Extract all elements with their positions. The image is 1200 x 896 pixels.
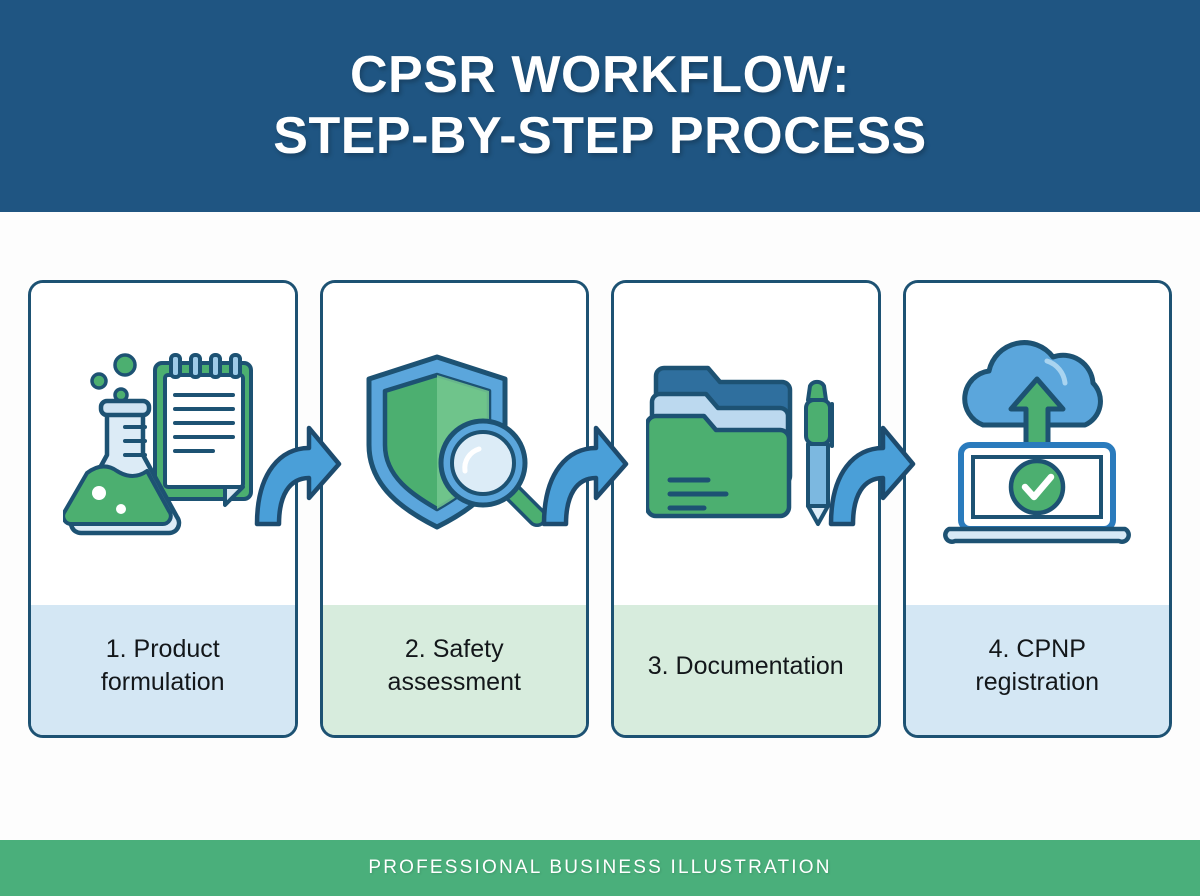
shield-magnifier-icon [323,283,587,605]
step-card-3[interactable]: 3. Documentation [611,280,881,738]
step-caption-3: 3. Documentation [614,605,878,735]
step-card-1[interactable]: 1. Product formulation [28,280,298,738]
step-caption-4-line-2: registration [975,668,1099,696]
step-caption-4-line-1: 4. CPNP [989,635,1086,663]
footer-text: PROFESSIONAL BUSINESS ILLUSTRATION [368,857,831,879]
footer-banner: PROFESSIONAL BUSINESS ILLUSTRATION [0,840,1200,896]
step-caption-1: 1. Product formulation [31,605,295,735]
step-caption-1-line-1: 1. Product [106,635,220,663]
header-banner: CPSR WORKFLOW: STEP-BY-STEP PROCESS [0,0,1200,212]
folders-pen-icon [614,283,878,605]
step-caption-1-line-2: formulation [101,668,225,696]
title-line-2: STEP-BY-STEP PROCESS [273,106,926,167]
step-caption-2-line-1: 2. Safety [405,635,504,663]
page-title: CPSR WORKFLOW: STEP-BY-STEP PROCESS [273,45,926,168]
step-caption-2-line-2: assessment [388,668,521,696]
infographic-page: CPSR WORKFLOW: STEP-BY-STEP PROCESS [0,0,1200,896]
step-caption-3-line-1: 3. Documentation [648,652,844,680]
step-caption-2: 2. Safety assessment [323,605,587,735]
step-card-4[interactable]: 4. CPNP registration [903,280,1173,738]
cloud-upload-laptop-check-icon [906,283,1170,605]
step-caption-4: 4. CPNP registration [906,605,1170,735]
title-line-1: CPSR WORKFLOW: [350,46,850,104]
step-card-2[interactable]: 2. Safety assessment [320,280,590,738]
workflow-steps-row: 1. Product formulation [28,280,1172,738]
flask-notepad-icon [31,283,295,605]
